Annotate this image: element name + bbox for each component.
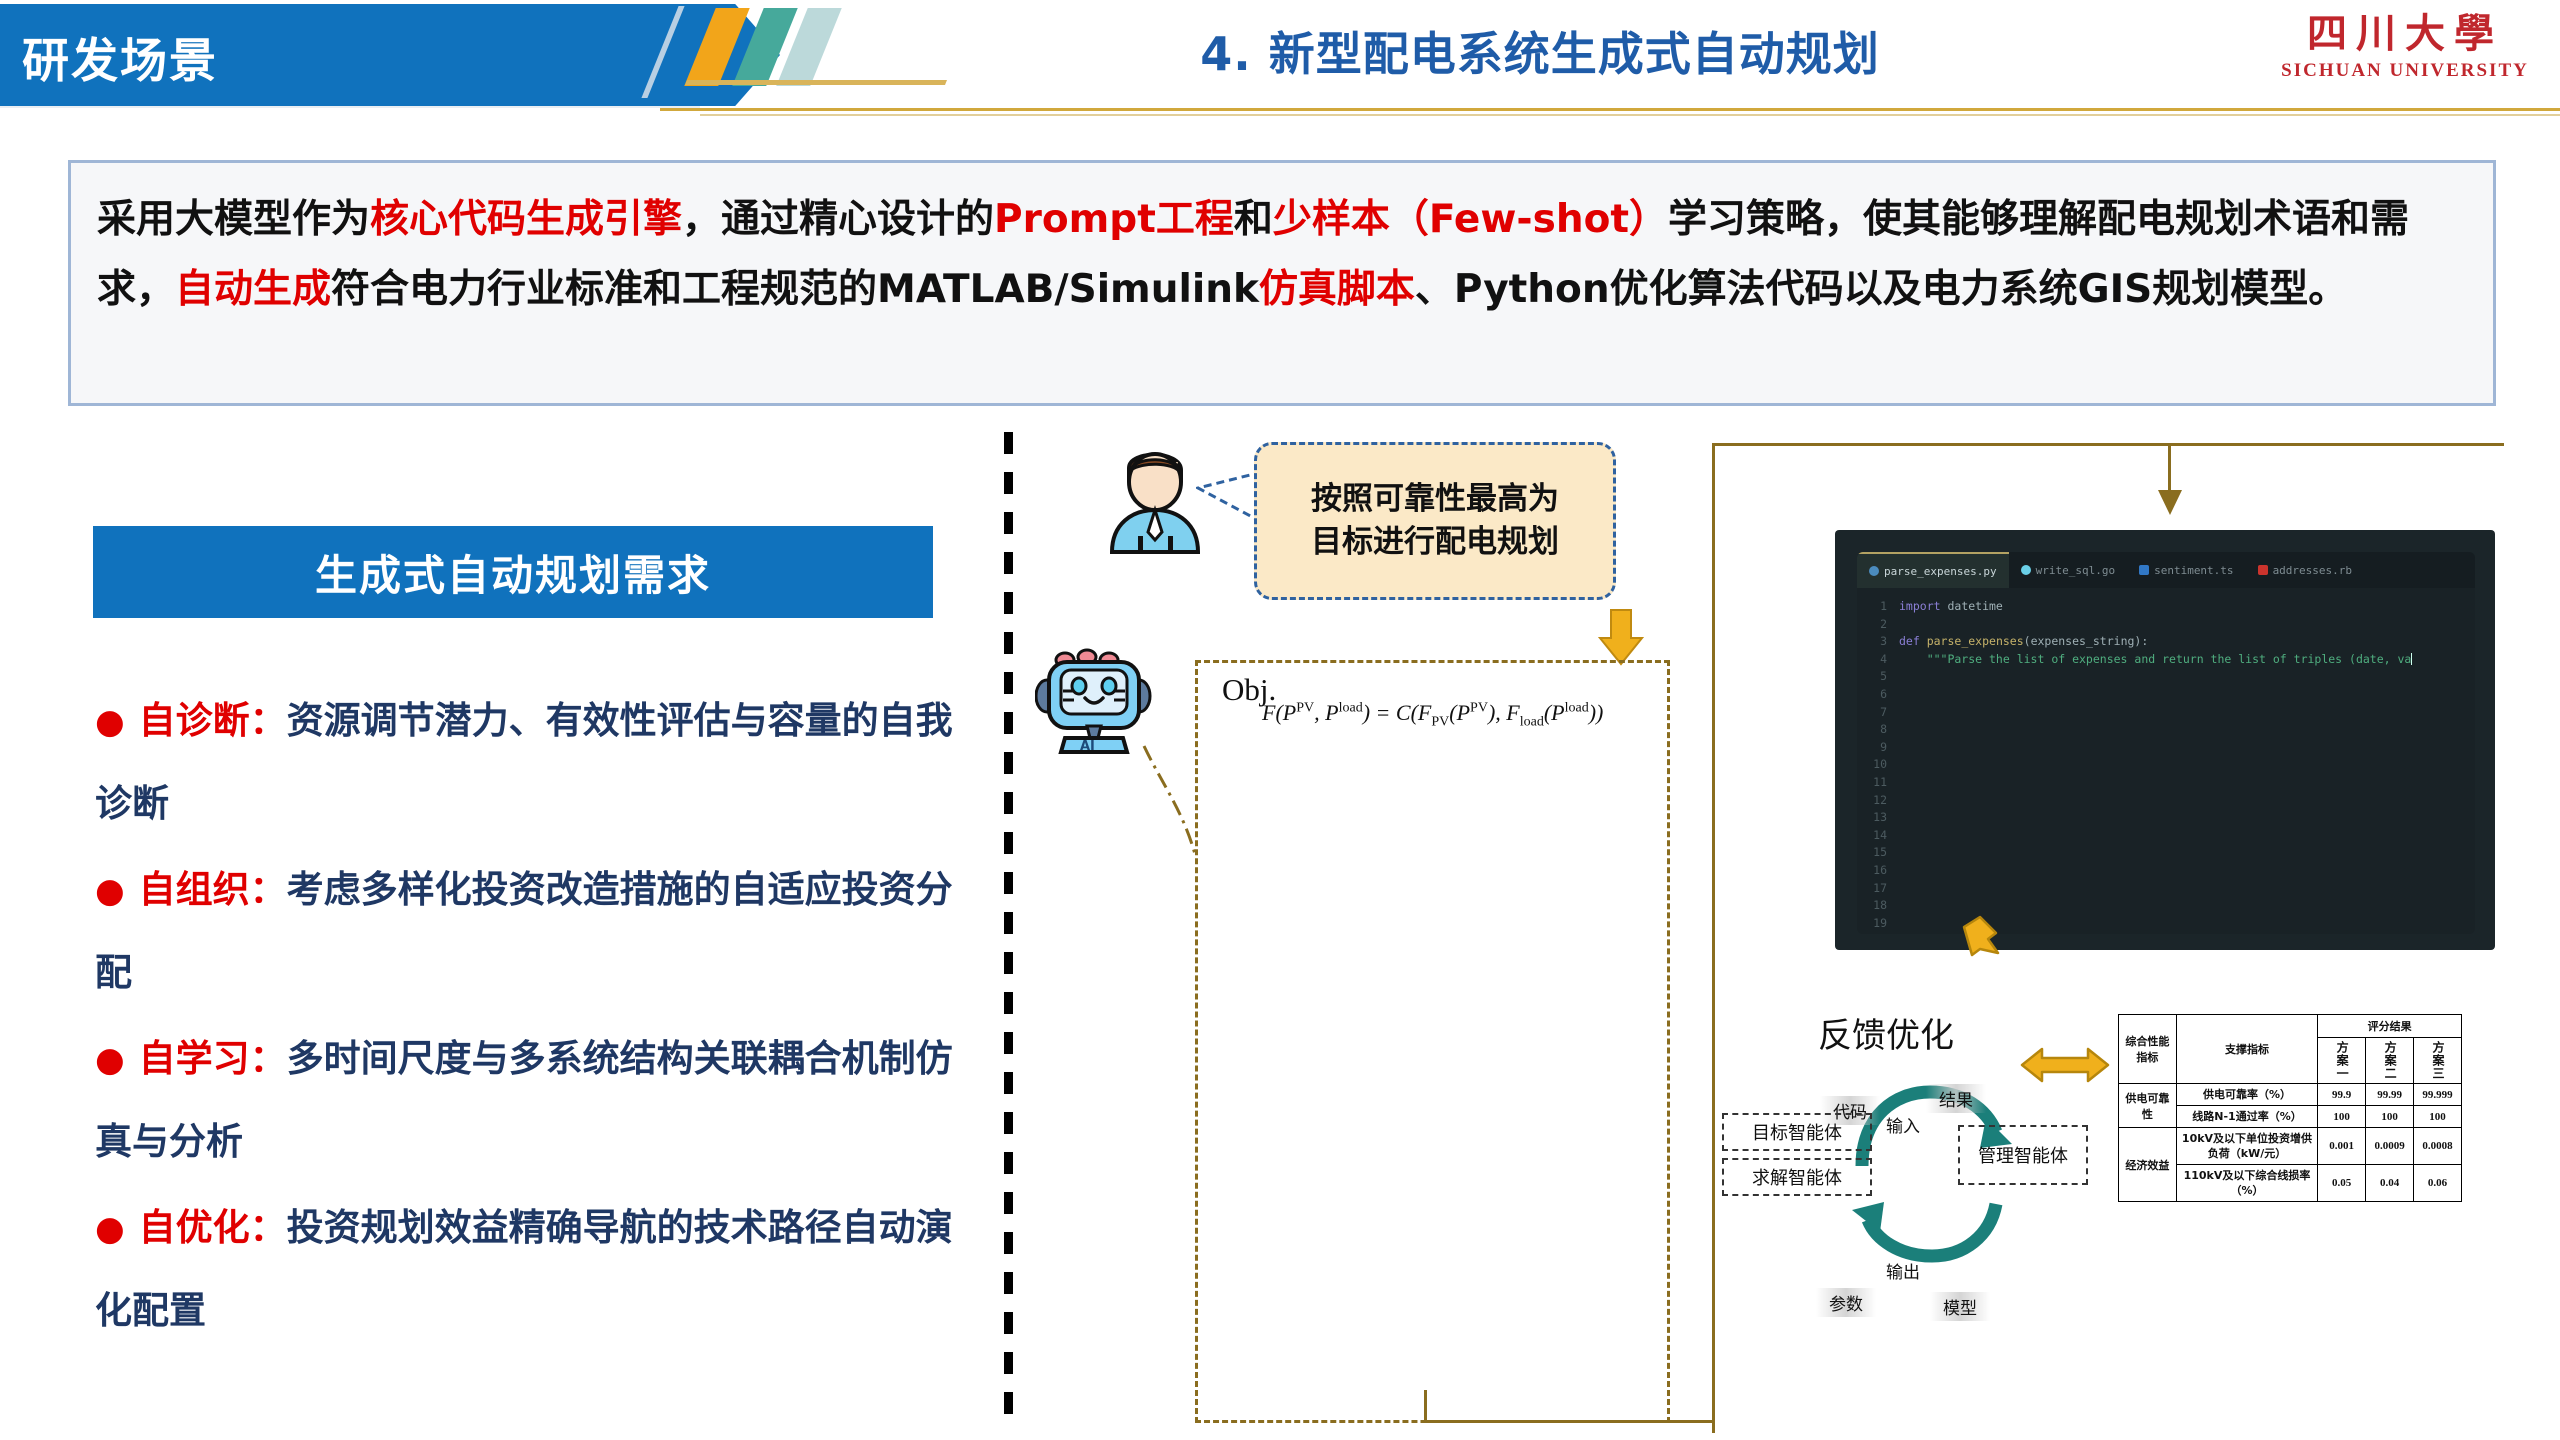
code-line-number: 2 bbox=[1857, 616, 1899, 634]
summary-text: 采用大模型作为核心代码生成引擎，通过精心设计的Prompt工程和少样本（Few-… bbox=[97, 185, 2467, 325]
text-cursor bbox=[2411, 653, 2412, 665]
bullet-key-2: 自组织： bbox=[139, 868, 287, 911]
plan-label-vertical: 方案二 bbox=[2383, 1041, 2396, 1080]
code-tab-label-2: sentiment.ts bbox=[2154, 564, 2233, 577]
code-line-text: def parse_expenses(expenses_string): bbox=[1899, 633, 2148, 651]
arrow-down-left-icon bbox=[1960, 915, 2000, 957]
table-value-r4-c1: 0.05 bbox=[2318, 1165, 2366, 1202]
code-tab-label-0: parse_expenses.py bbox=[1884, 565, 1997, 578]
code-line: 6 bbox=[1857, 686, 2475, 704]
frame-bottom-stub bbox=[1424, 1390, 1427, 1423]
cycle-label-input: 输入 bbox=[1886, 1112, 1920, 1137]
table-value-r4-c2: 0.04 bbox=[2366, 1165, 2414, 1202]
code-line-number: 6 bbox=[1857, 686, 1899, 704]
table-group-cell: 经济效益 bbox=[2119, 1128, 2177, 1202]
cycle-label-model: 模型 bbox=[1930, 1292, 1990, 1321]
scoring-result-table: 综合性能指标支撑指标评分结果方案一方案二方案三供电可靠性供电可靠率（%）99.9… bbox=[2118, 1014, 2462, 1202]
table-indicator-cell: 供电可靠率（%） bbox=[2176, 1084, 2317, 1106]
table-value-r3-c2: 0.0009 bbox=[2366, 1128, 2414, 1165]
left-panel-title: 生成式自动规划需求 bbox=[93, 526, 933, 618]
table-value-r1-c2: 99.99 bbox=[2366, 1084, 2414, 1106]
table-header-plan-1: 方案一 bbox=[2318, 1038, 2366, 1084]
code-token: """Parse the list of expenses and return… bbox=[1899, 652, 2411, 666]
person-icon bbox=[1102, 440, 1208, 556]
code-line-number: 3 bbox=[1857, 633, 1899, 651]
table-header-support: 支撑指标 bbox=[2176, 1015, 2317, 1084]
bullet-key-1: 自诊断： bbox=[139, 699, 287, 742]
table-indicator-cell: 线路N-1通过率（%） bbox=[2176, 1106, 2317, 1128]
code-line-number: 18 bbox=[1857, 897, 1899, 915]
frame-arrow-head-icon bbox=[2156, 490, 2184, 516]
frame-arrow-stem bbox=[2168, 443, 2171, 495]
summary-segment-5: 少样本（Few-shot） bbox=[1273, 197, 1668, 242]
agent-box-solver: 求解智能体 bbox=[1722, 1158, 1872, 1196]
table-group-cell: 供电可靠性 bbox=[2119, 1084, 2177, 1128]
table-value-r3-c1: 0.001 bbox=[2318, 1128, 2366, 1165]
ai-robot-icon: AI bbox=[1035, 648, 1153, 756]
code-line: 14 bbox=[1857, 827, 2475, 845]
plan-label-vertical: 方案三 bbox=[2431, 1041, 2444, 1080]
summary-segment-1: 核心代码生成引擎 bbox=[370, 197, 682, 242]
bullet-item-1: ●自诊断：资源调节潜力、有效性评估与容量的自我诊断 bbox=[95, 680, 955, 845]
page-header: 研发场景 4. 新型配电系统生成式自动规划 四川大學 SICHUAN UNIVE… bbox=[0, 0, 2560, 118]
code-tab-3[interactable]: addresses.rb bbox=[2246, 552, 2364, 588]
code-line: 9 bbox=[1857, 739, 2475, 757]
header-gold-rule bbox=[660, 108, 2560, 111]
code-line: 3def parse_expenses(expenses_string): bbox=[1857, 633, 2475, 651]
code-token: parse_expenses bbox=[1927, 634, 2024, 648]
table-header-plan-2: 方案二 bbox=[2366, 1038, 2414, 1084]
table-row: 经济效益10kV及以下单位投资增供负荷（kW/元）0.0010.00090.00… bbox=[2119, 1128, 2462, 1165]
table-value-r1-c3: 99.999 bbox=[2414, 1084, 2462, 1106]
header-grey-rule bbox=[0, 106, 700, 108]
code-line-number: 14 bbox=[1857, 827, 1899, 845]
table-row: 供电可靠性供电可靠率（%）99.999.9999.999 bbox=[2119, 1084, 2462, 1106]
code-line: 13 bbox=[1857, 809, 2475, 827]
university-logo-chinese: 四川大學 bbox=[2260, 8, 2550, 60]
bullet-item-2: ●自组织：考虑多样化投资改造措施的自适应投资分配 bbox=[95, 849, 955, 1014]
summary-segment-8: 符合电力行业标准和工程规范的MATLAB/Simulink bbox=[331, 267, 1259, 312]
code-tab-1[interactable]: write_sql.go bbox=[2009, 552, 2127, 588]
code-tab-2[interactable]: sentiment.ts bbox=[2127, 552, 2245, 588]
table-indicator-cell: 110kV及以下综合线损率（%） bbox=[2176, 1165, 2317, 1202]
header-gold-rule-secondary bbox=[700, 114, 2560, 116]
python-icon bbox=[1869, 566, 1879, 576]
code-line-number: 12 bbox=[1857, 792, 1899, 810]
code-line: 11 bbox=[1857, 774, 2475, 792]
table-header-row: 综合性能指标支撑指标评分结果 bbox=[2119, 1015, 2462, 1038]
summary-segment-4: 和 bbox=[1234, 197, 1273, 242]
table-indicator-cell: 10kV及以下单位投资增供负荷（kW/元） bbox=[2176, 1128, 2317, 1165]
code-line: 5 bbox=[1857, 668, 2475, 686]
code-line: 10 bbox=[1857, 756, 2475, 774]
double-arrow-icon bbox=[2020, 1043, 2110, 1087]
plan-label-vertical: 方案一 bbox=[2335, 1041, 2348, 1080]
table-header-group: 评分结果 bbox=[2318, 1015, 2462, 1038]
code-line-number: 13 bbox=[1857, 809, 1899, 827]
speech-bubble-tail bbox=[1196, 470, 1262, 524]
cycle-label-output: 输出 bbox=[1886, 1258, 1920, 1283]
bullet-dot-icon: ● bbox=[95, 702, 125, 742]
code-token: import bbox=[1899, 599, 1947, 613]
summary-segment-0: 采用大模型作为 bbox=[97, 197, 370, 242]
table-value-r4-c3: 0.06 bbox=[2414, 1165, 2462, 1202]
code-line-text: """Parse the list of expenses and return… bbox=[1899, 651, 2412, 669]
table-header-metric: 综合性能指标 bbox=[2119, 1015, 2177, 1084]
code-line: 8 bbox=[1857, 721, 2475, 739]
table-header-plan-3: 方案三 bbox=[2414, 1038, 2462, 1084]
bullet-key-4: 自优化： bbox=[139, 1206, 287, 1249]
bullet-dot-icon: ● bbox=[95, 1040, 125, 1080]
code-line: 4 """Parse the list of expenses and retu… bbox=[1857, 651, 2475, 669]
agent-box-target: 目标智能体 bbox=[1722, 1113, 1872, 1151]
code-line-number: 8 bbox=[1857, 721, 1899, 739]
objective-formula: F(PPV, Pload) = C(FPV(PPV), Fload(Pload)… bbox=[1262, 700, 1603, 730]
center-dashed-divider bbox=[1004, 432, 1013, 1432]
typescript-icon bbox=[2139, 565, 2149, 575]
code-line-number: 10 bbox=[1857, 756, 1899, 774]
university-logo: 四川大學 SICHUAN UNIVERSITY bbox=[2260, 8, 2550, 103]
summary-segment-2: ，通过精心设计的 bbox=[682, 197, 994, 242]
code-line-number: 4 bbox=[1857, 651, 1899, 669]
code-line-text: import datetime bbox=[1899, 598, 2003, 616]
code-tab-0[interactable]: parse_expenses.py bbox=[1857, 552, 2009, 588]
code-line-number: 7 bbox=[1857, 704, 1899, 722]
summary-segment-10: 、Python优化算法代码以及电力系统GIS规划模型。 bbox=[1415, 267, 2347, 312]
summary-segment-7: 自动生成 bbox=[175, 267, 331, 312]
code-line: 16 bbox=[1857, 862, 2475, 880]
table-value-r2-c1: 100 bbox=[2318, 1106, 2366, 1128]
summary-segment-9: 仿真脚本 bbox=[1259, 267, 1415, 312]
code-token: def bbox=[1899, 634, 1927, 648]
agent-box-manager: 管理智能体 bbox=[1958, 1125, 2088, 1185]
table-value-r1-c1: 99.9 bbox=[2318, 1084, 2366, 1106]
table-value-r2-c2: 100 bbox=[2366, 1106, 2414, 1128]
user-request-bubble: 按照可靠性最高为 目标进行配电规划 bbox=[1254, 442, 1616, 600]
code-line: 2 bbox=[1857, 616, 2475, 634]
bubble-line-2: 目标进行配电规划 bbox=[1311, 521, 1559, 564]
svg-text:AI: AI bbox=[1080, 739, 1095, 754]
code-line-number: 1 bbox=[1857, 598, 1899, 616]
code-line: 17 bbox=[1857, 880, 2475, 898]
university-logo-english: SICHUAN UNIVERSITY bbox=[2260, 60, 2550, 82]
code-line-number: 17 bbox=[1857, 880, 1899, 898]
table-value-r3-c3: 0.0008 bbox=[2414, 1128, 2462, 1165]
bullet-item-3: ●自学习：多时间尺度与多系统结构关联耦合机制仿真与分析 bbox=[95, 1018, 955, 1183]
objective-box bbox=[1195, 660, 1670, 1423]
code-line-number: 20 bbox=[1857, 932, 1899, 934]
table-value-r2-c3: 100 bbox=[2414, 1106, 2462, 1128]
code-line-number: 19 bbox=[1857, 915, 1899, 933]
code-line: 1import datetime bbox=[1857, 598, 2475, 616]
code-line: 20 bbox=[1857, 932, 2475, 934]
bullet-item-4: ●自优化：投资规划效益精确导航的技术路径自动演化配置 bbox=[95, 1187, 955, 1352]
code-line: 15 bbox=[1857, 844, 2475, 862]
bubble-line-1: 按照可靠性最高为 bbox=[1311, 478, 1559, 521]
cycle-label-result: 结果 bbox=[1926, 1084, 1986, 1113]
code-editor-body[interactable]: 1import datetime23def parse_expenses(exp… bbox=[1857, 588, 2475, 934]
bullet-dot-icon: ● bbox=[95, 1209, 125, 1249]
arrow-down-icon bbox=[1598, 608, 1644, 666]
code-token: datetime bbox=[1947, 599, 2002, 613]
cycle-label-param: 参数 bbox=[1816, 1288, 1876, 1317]
code-line: 18 bbox=[1857, 897, 2475, 915]
code-tab-label-3: addresses.rb bbox=[2273, 564, 2352, 577]
ruby-icon bbox=[2258, 565, 2268, 575]
code-line-number: 16 bbox=[1857, 862, 1899, 880]
code-line: 12 bbox=[1857, 792, 2475, 810]
code-line-number: 11 bbox=[1857, 774, 1899, 792]
code-line-number: 5 bbox=[1857, 668, 1899, 686]
frame-bottom-link bbox=[1424, 1420, 1715, 1423]
code-token: (expenses_string): bbox=[2024, 634, 2149, 648]
bullet-key-3: 自学习： bbox=[139, 1037, 287, 1080]
summary-box: 采用大模型作为核心代码生成引擎，通过精心设计的Prompt工程和少样本（Few-… bbox=[68, 160, 2496, 406]
go-icon bbox=[2021, 565, 2031, 575]
scene-label: 研发场景 bbox=[22, 22, 218, 91]
code-editor-panel[interactable]: parse_expenses.pywrite_sql.gosentiment.t… bbox=[1857, 552, 2475, 934]
left-panel-bullets: ●自诊断：资源调节潜力、有效性评估与容量的自我诊断●自组织：考虑多样化投资改造措… bbox=[95, 680, 955, 1356]
code-line: 19 bbox=[1857, 915, 2475, 933]
code-editor-tabbar[interactable]: parse_expenses.pywrite_sql.gosentiment.t… bbox=[1857, 552, 2475, 588]
page-title: 4. 新型配电系统生成式自动规划 bbox=[880, 18, 2200, 84]
bullet-dot-icon: ● bbox=[95, 871, 125, 911]
code-line: 7 bbox=[1857, 704, 2475, 722]
code-tab-label-1: write_sql.go bbox=[2036, 564, 2115, 577]
summary-segment-3: Prompt工程 bbox=[994, 197, 1234, 242]
code-line-number: 9 bbox=[1857, 739, 1899, 757]
code-line-number: 15 bbox=[1857, 844, 1899, 862]
